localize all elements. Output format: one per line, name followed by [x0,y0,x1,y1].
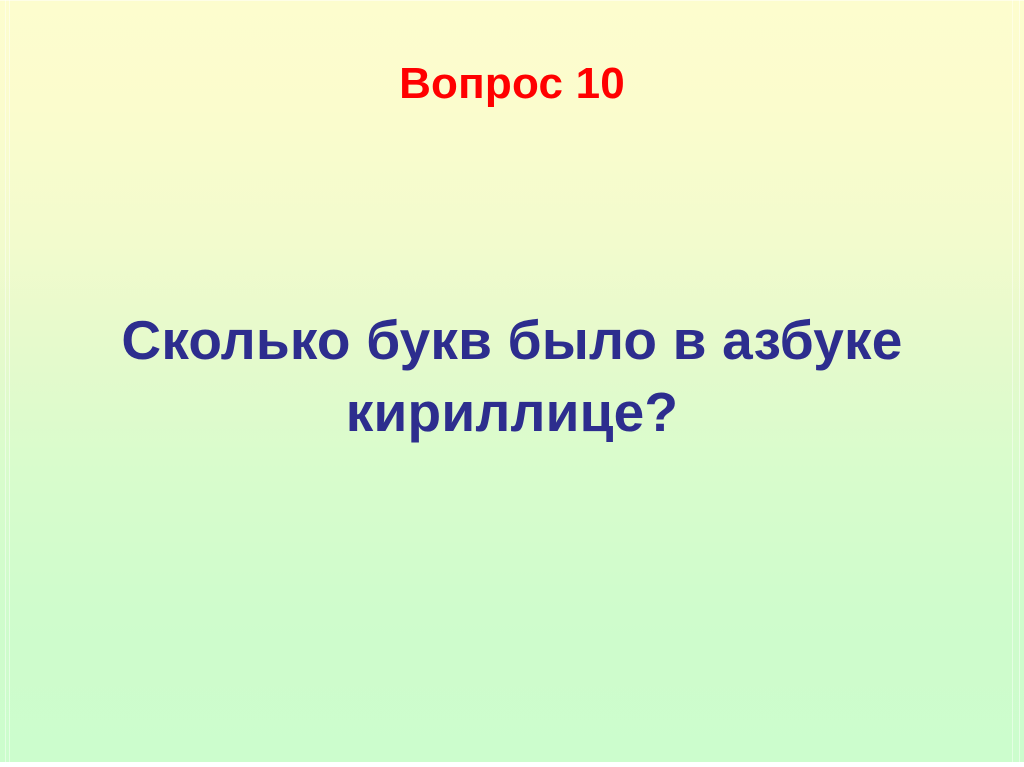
slide-title: Вопрос 10 [399,58,625,110]
question-text: Сколько букв было в азбуке кириллице? [52,305,972,448]
slide-left-inner-line [9,0,10,762]
slide-body-block: Сколько букв было в азбуке кириллице? [52,305,972,448]
slide-title-block: Вопрос 10 [0,58,1024,110]
slide-right-edge-line [1019,0,1020,762]
slide-right-inner-line [1012,0,1013,762]
slide-top-edge-line [0,0,1024,1]
slide-left-edge-line [5,0,6,762]
presentation-slide: Вопрос 10 Сколько букв было в азбуке кир… [0,0,1024,762]
